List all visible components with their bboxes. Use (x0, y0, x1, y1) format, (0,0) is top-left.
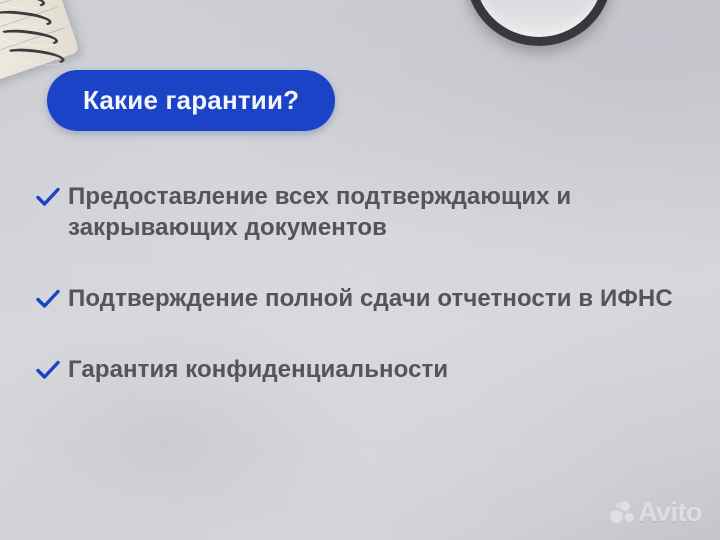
avito-brand-text: Avito (638, 497, 702, 528)
list-item: Подтверждение полной сдачи отчетности в … (34, 283, 674, 314)
avito-dots-icon (610, 501, 635, 525)
avito-watermark: Avito (610, 497, 702, 528)
check-icon (34, 181, 62, 211)
check-icon (34, 354, 62, 384)
list-item: Гарантия конфиденциальности (34, 354, 674, 385)
list-item-label: Гарантия конфиденциальности (68, 354, 448, 385)
promo-slide: Какие гарантии? Предоставление всех подт… (0, 0, 720, 540)
list-item-label: Предоставление всех подтверждающих и зак… (68, 181, 674, 243)
heading-text: Какие гарантии? (83, 85, 299, 116)
heading-pill: Какие гарантии? (47, 70, 335, 131)
list-item: Предоставление всех подтверждающих и зак… (34, 181, 674, 243)
check-icon (34, 283, 62, 313)
guarantees-checklist: Предоставление всех подтверждающих и зак… (34, 181, 674, 385)
list-item-label: Подтверждение полной сдачи отчетности в … (68, 283, 673, 314)
